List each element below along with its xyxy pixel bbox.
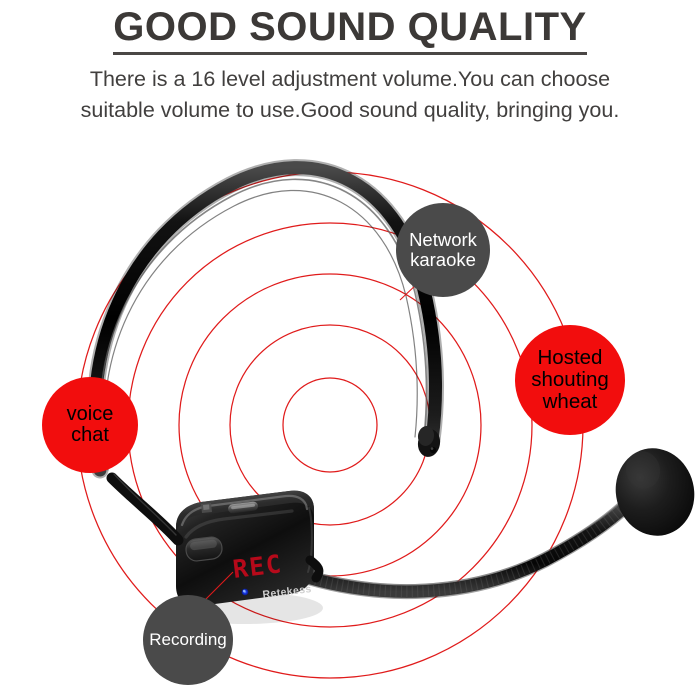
microphone-capsule — [607, 440, 700, 544]
callout-label-network-karaoke: Network karaoke — [406, 230, 480, 269]
callout-line-1: Recording — [149, 630, 227, 649]
callout-line-1: voice — [67, 403, 114, 425]
callout-line-2: karaoke — [410, 249, 476, 270]
sound-wave-ring-1 — [283, 378, 377, 472]
callout-label-recording: Recording — [146, 631, 230, 649]
headband — [95, 168, 442, 470]
callout-label-voice-chat: voice chat — [64, 404, 117, 446]
svg-text:REC: REC — [231, 549, 284, 584]
led-display: REC — [231, 549, 284, 584]
callout-line-2: shouting — [531, 368, 609, 391]
callout-line-2: chat — [71, 424, 109, 446]
callout-bubble-recording[interactable]: Recording — [143, 595, 233, 685]
callout-label-hosted-shouting-wheat: Hosted shouting wheat — [528, 347, 612, 412]
callout-line-3: wheat — [543, 390, 598, 413]
control-body: REC Retekess — [112, 474, 323, 624]
gooseneck-boom — [300, 494, 634, 592]
callout-line-1: Network — [409, 229, 477, 250]
callout-bubble-hosted-shouting-wheat[interactable]: Hosted shouting wheat — [515, 325, 625, 435]
callout-bubble-network-karaoke[interactable]: Network karaoke — [396, 203, 490, 297]
callout-bubble-voice-chat[interactable]: voice chat — [42, 377, 138, 473]
product-banner: GOOD SOUND QUALITY There is a 16 level a… — [0, 0, 700, 700]
callout-line-1: Hosted — [538, 346, 603, 369]
